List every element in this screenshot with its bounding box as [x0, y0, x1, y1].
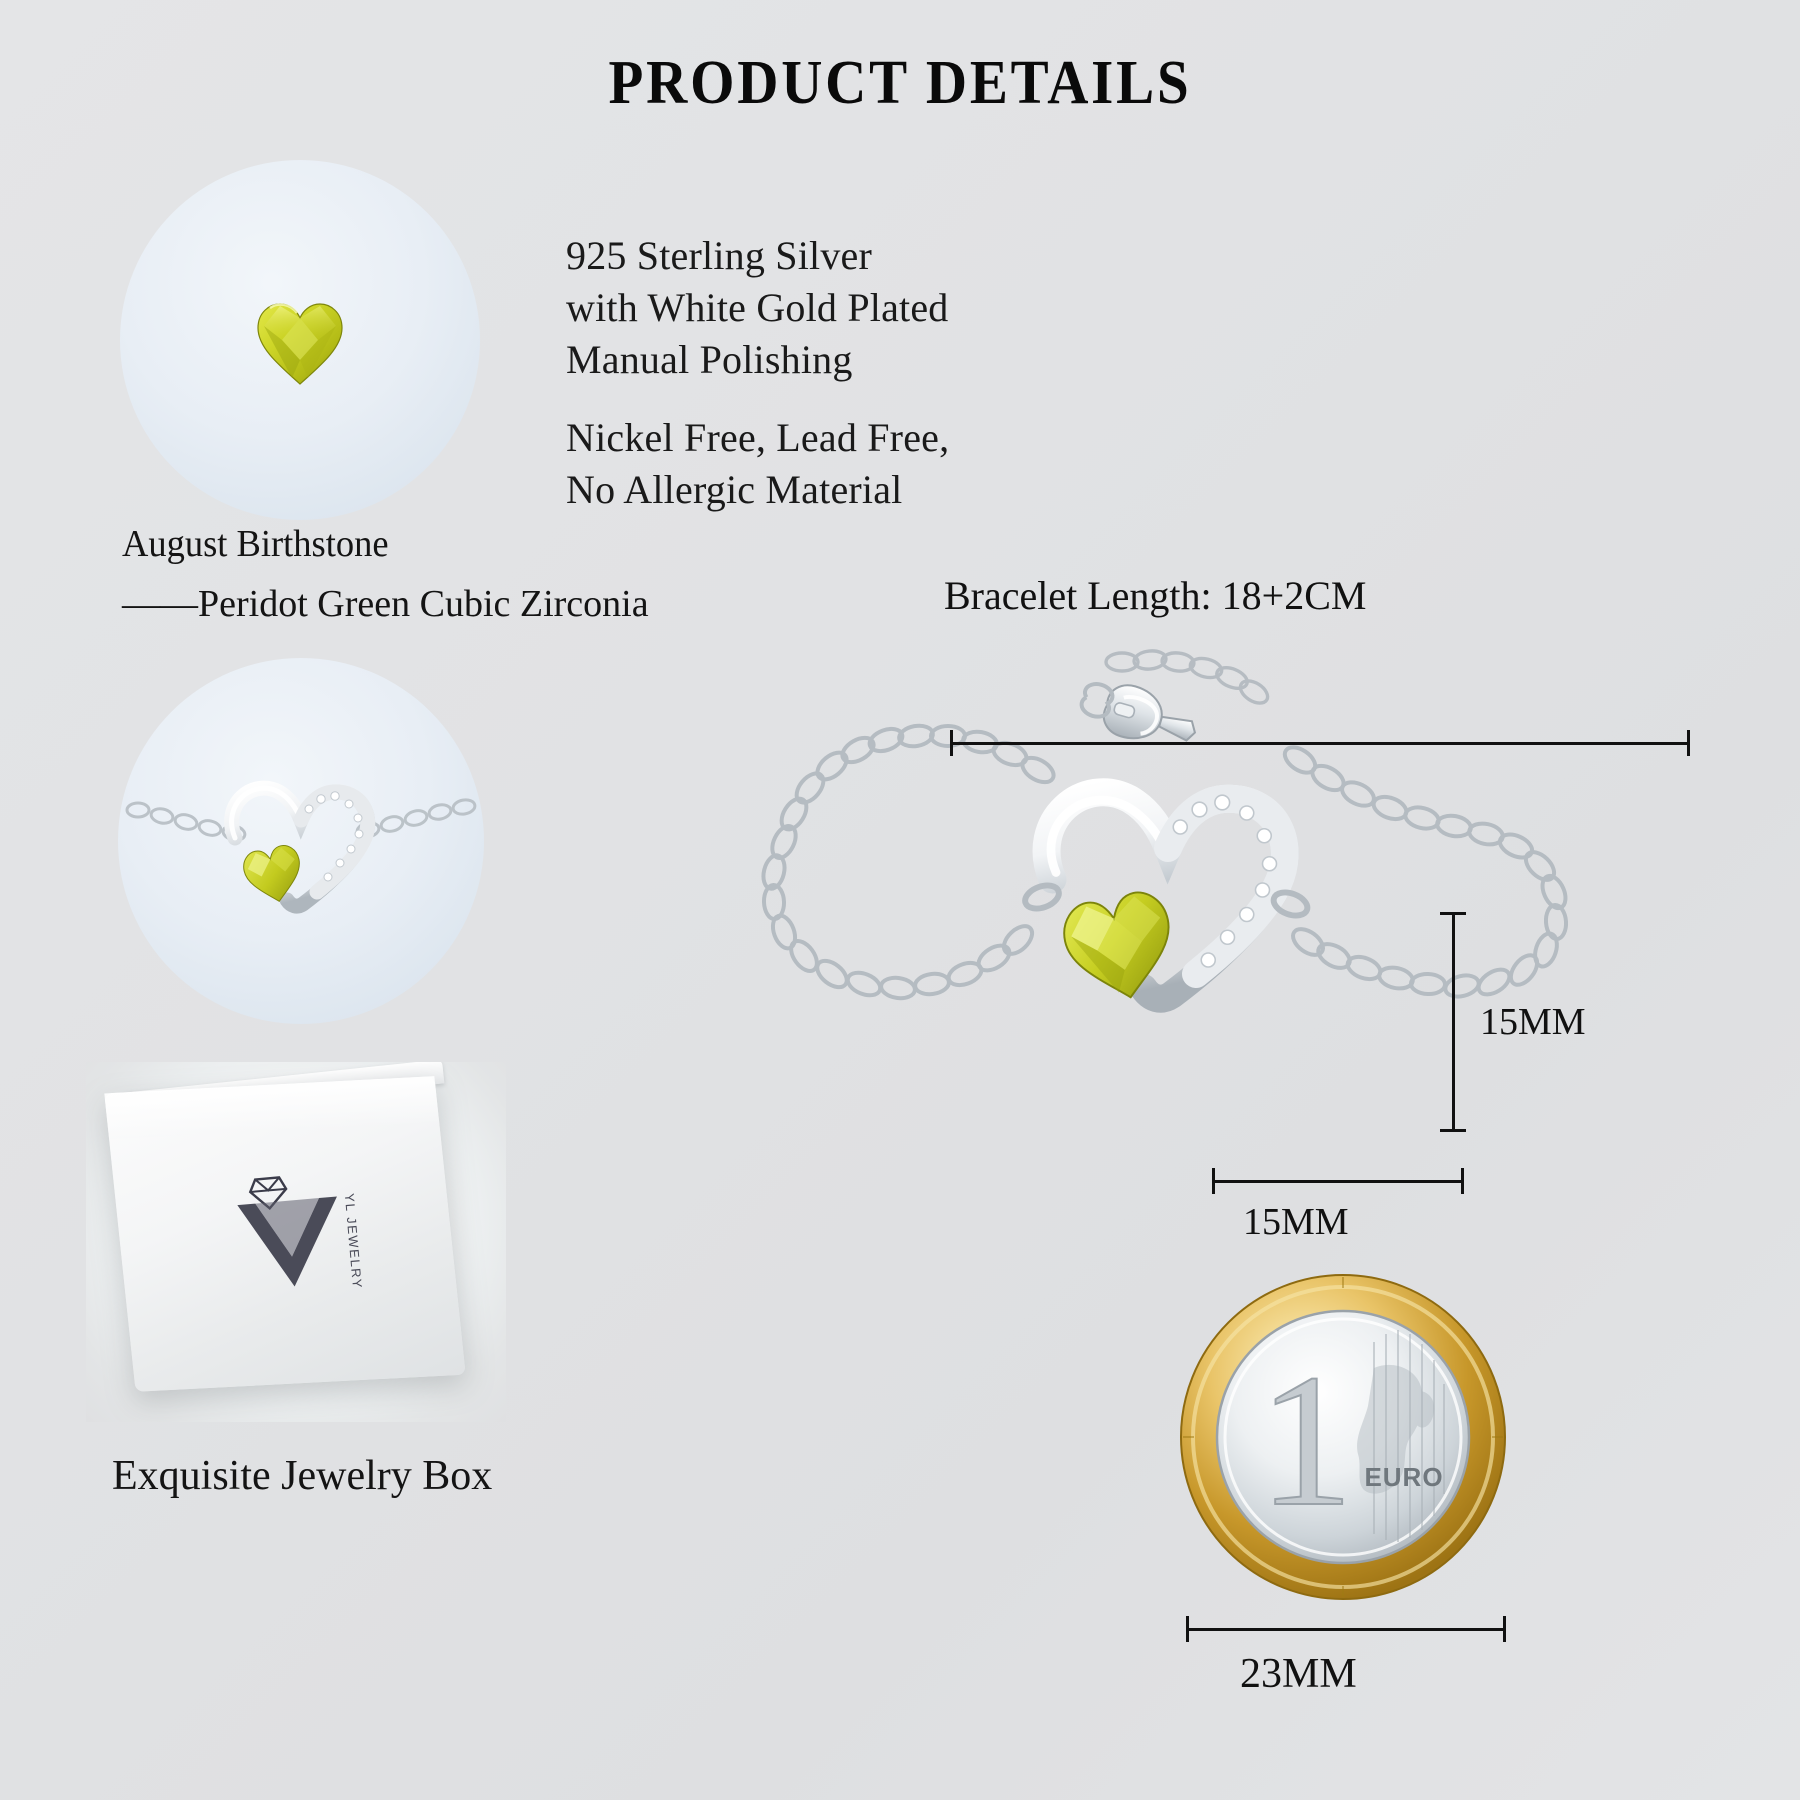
- pendant-height-dimension-line: [1452, 912, 1455, 1132]
- brand-logo: YL JEWELRY: [192, 1150, 404, 1317]
- bracelet-illustration: [760, 640, 1570, 1070]
- chain-left: [760, 723, 1058, 1000]
- bracelet-photo-circle: [118, 658, 484, 1024]
- page-title: PRODUCT DETAILS: [72, 48, 1728, 119]
- spec-line: with White Gold Plated: [566, 282, 949, 334]
- pendant-height-label: 15MM: [1480, 1000, 1586, 1044]
- dimension-tick-right: [1461, 1168, 1464, 1194]
- spec-line: Nickel Free, Lead Free,: [566, 412, 949, 464]
- birthstone-subcaption: ——Peridot Green Cubic Zirconia: [122, 582, 649, 626]
- spec-block-safety: Nickel Free, Lead Free, No Allergic Mate…: [566, 412, 949, 516]
- coin-diameter-dimension-line: [1186, 1628, 1506, 1631]
- dimension-tick-right: [1503, 1616, 1506, 1642]
- dimension-tick-right: [1687, 730, 1690, 756]
- spec-block-material: 925 Sterling Silver with White Gold Plat…: [566, 230, 949, 386]
- spec-line: 925 Sterling Silver: [566, 230, 949, 282]
- bracelet-length-dimension-line: [950, 742, 1690, 745]
- dimension-tick-left: [950, 730, 953, 756]
- dimension-tick-bottom: [1440, 1129, 1466, 1132]
- pendant-width-label: 15MM: [1243, 1200, 1349, 1244]
- heart-gem-icon: [120, 160, 480, 520]
- gem-photo-circle: [120, 160, 480, 520]
- pendant-width-dimension-line: [1212, 1180, 1464, 1183]
- coin-denomination: 1: [1259, 1336, 1354, 1546]
- coin-currency: EURO: [1364, 1462, 1443, 1492]
- bracelet-length-label: Bracelet Length: 18+2CM: [944, 572, 1366, 619]
- spec-line: No Allergic Material: [566, 464, 949, 516]
- heart-pendant-icon: [118, 658, 484, 1024]
- coin-diameter-label: 23MM: [1240, 1650, 1357, 1698]
- brand-name: YL JEWELRY: [342, 1193, 365, 1290]
- dimension-tick-left: [1212, 1168, 1215, 1194]
- dimension-tick-top: [1440, 912, 1466, 915]
- chain-right: [1280, 742, 1570, 1000]
- euro-coin-reference: 1 EURO: [1178, 1272, 1508, 1602]
- birthstone-caption: August Birthstone: [122, 522, 389, 566]
- product-details-page: PRODUCT DETAILS: [0, 0, 1800, 1800]
- jewelry-box-photo: YL JEWELRY: [86, 1062, 506, 1422]
- dimension-tick-left: [1186, 1616, 1189, 1642]
- spec-line: Manual Polishing: [566, 334, 949, 386]
- box-caption: Exquisite Jewelry Box: [112, 1452, 492, 1500]
- heart-pendant-icon: [1022, 792, 1311, 1008]
